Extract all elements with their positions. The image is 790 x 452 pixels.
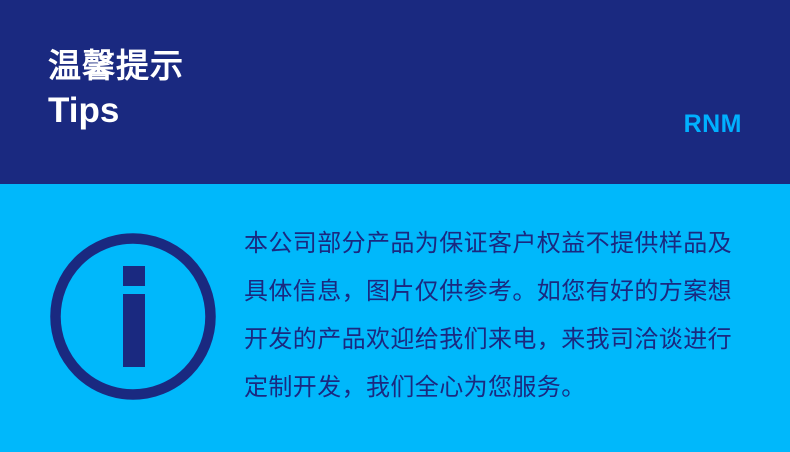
- tips-banner: 温馨提示 Tips RNM 本公司部分产品为保证客户权益不提供样品及 具体信息，…: [0, 0, 790, 452]
- banner-header: 温馨提示 Tips RNM: [0, 0, 790, 184]
- banner-body: 本公司部分产品为保证客户权益不提供样品及 具体信息，图片仅供参考。如您有好的方案…: [0, 184, 790, 452]
- notice-text-block: 本公司部分产品为保证客户权益不提供样品及 具体信息，图片仅供参考。如您有好的方案…: [244, 220, 736, 412]
- header-title-group: 温馨提示 Tips: [48, 46, 184, 132]
- brand-logo: RNM: [684, 110, 742, 139]
- notice-line: 具体信息，图片仅供参考。如您有好的方案想: [244, 268, 736, 316]
- page-title-chinese: 温馨提示: [48, 46, 184, 86]
- notice-line: 开发的产品欢迎给我们来电，来我司洽谈进行: [244, 316, 736, 364]
- info-circle-icon: [50, 233, 216, 400]
- page-title-english: Tips: [48, 90, 184, 132]
- notice-line: 本公司部分产品为保证客户权益不提供样品及: [244, 220, 736, 268]
- notice-line: 定制开发，我们全心为您服务。: [244, 364, 736, 412]
